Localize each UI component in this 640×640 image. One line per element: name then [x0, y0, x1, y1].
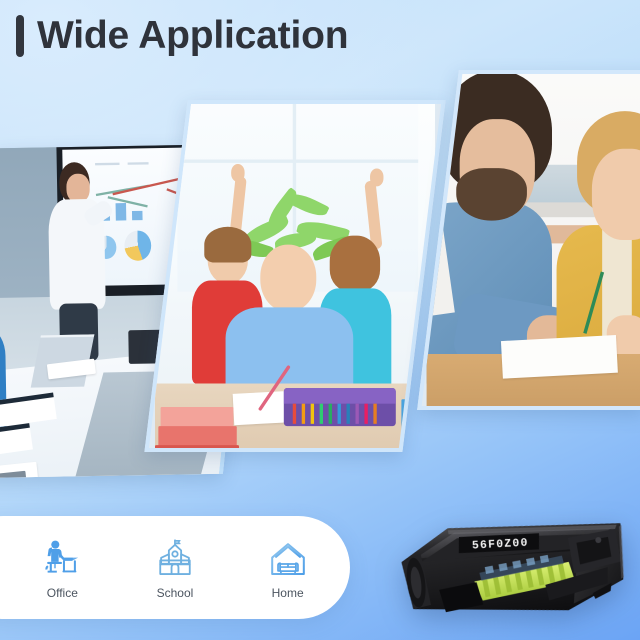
office-desk-icon [39, 536, 85, 582]
school-building-icon [152, 536, 198, 582]
toner-drum-cartridge: 56F0Z00 [384, 469, 640, 640]
usecase-office-label: Office [47, 586, 78, 600]
home-sofa-icon [265, 536, 311, 582]
title-text: Wide Application [37, 14, 348, 58]
usecase-card: Office [0, 516, 350, 619]
usecase-list: Office [0, 516, 350, 619]
marketing-banner: Wide Application [0, 0, 640, 640]
usecase-school[interactable]: School [129, 536, 221, 600]
usecase-home-label: Home [272, 586, 304, 600]
usecase-school-label: School [157, 586, 194, 600]
usecase-office[interactable]: Office [16, 536, 108, 600]
page-title: Wide Application [16, 14, 348, 58]
title-accent-bar [16, 15, 24, 57]
home-study-photo [417, 70, 640, 410]
classroom-photo [144, 100, 445, 452]
usecase-home[interactable]: Home [242, 536, 334, 600]
